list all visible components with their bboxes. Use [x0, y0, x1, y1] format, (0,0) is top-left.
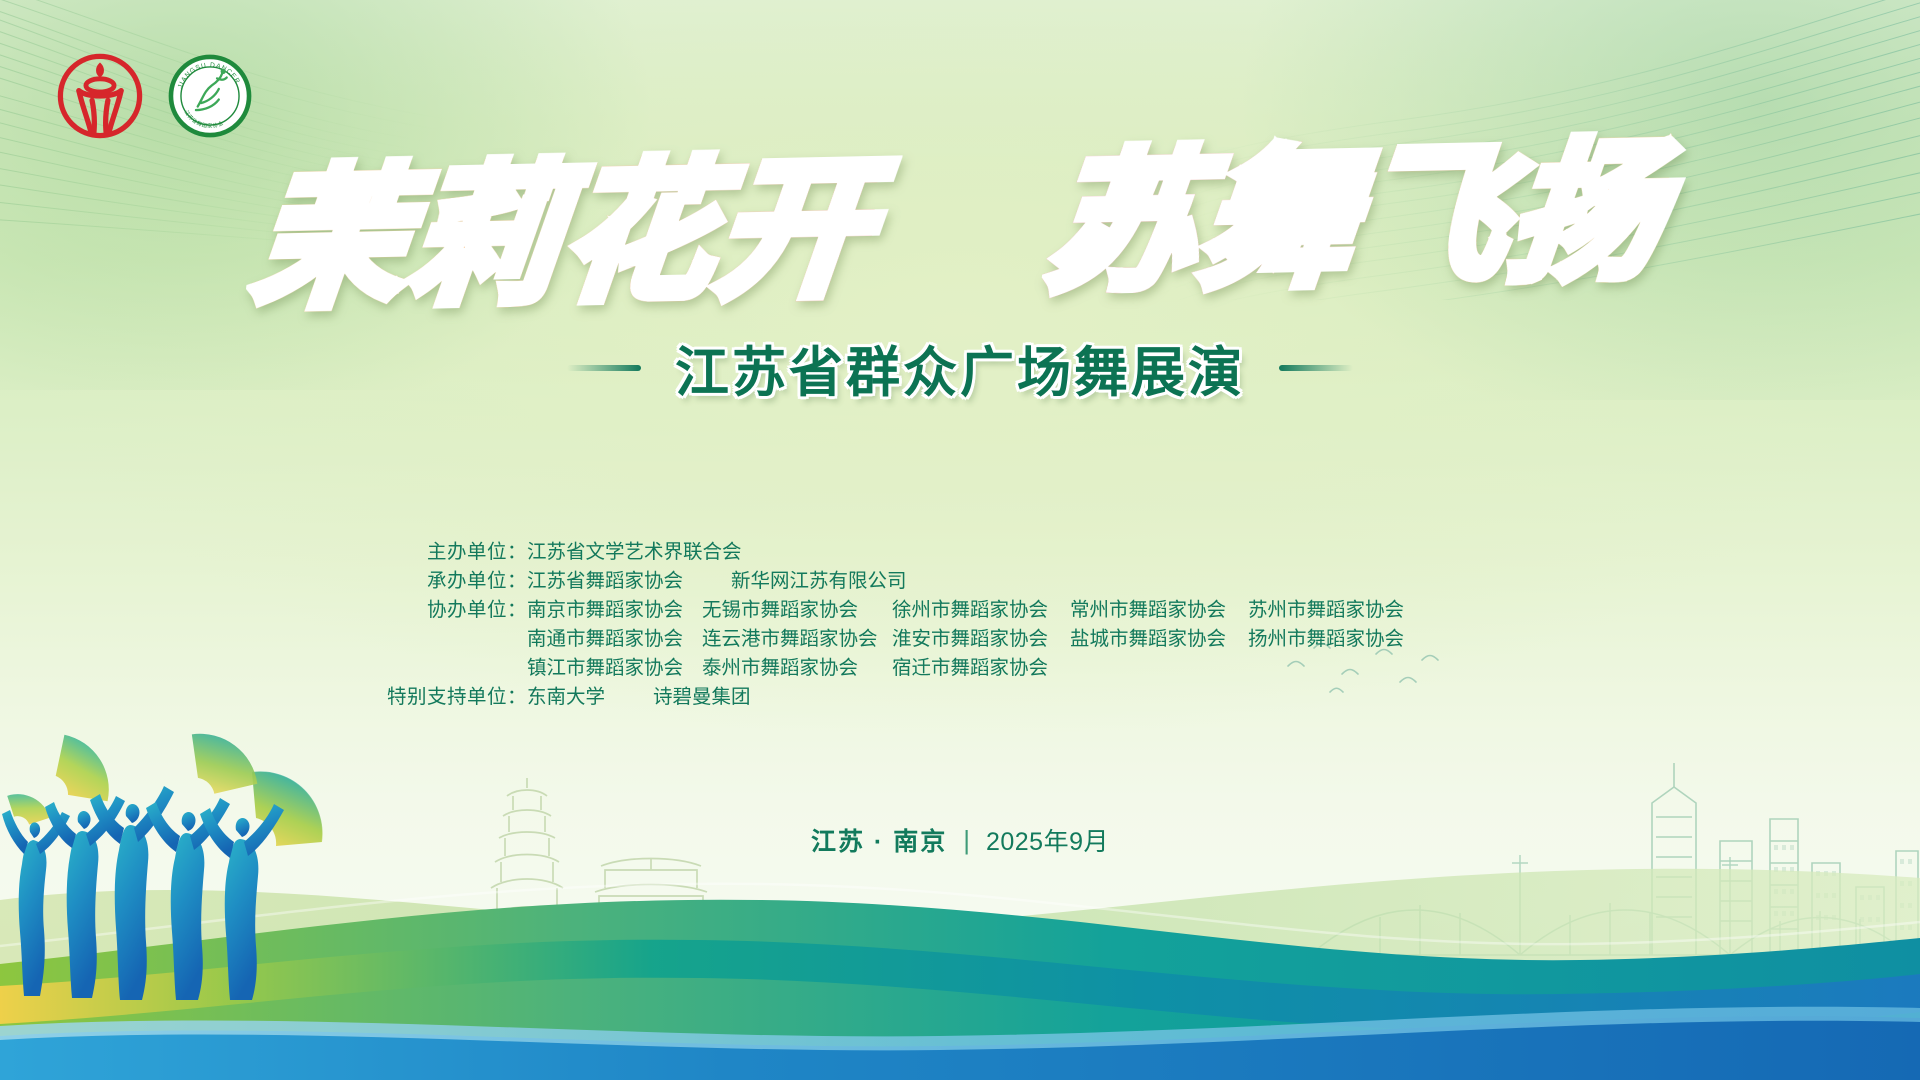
credit-item: 无锡市舞蹈家协会 [702, 596, 892, 625]
credit-label-host: 承办单位： [405, 567, 527, 596]
credit-item: 南京市舞蹈家协会 [527, 596, 702, 625]
credit-item: 淮安市舞蹈家协会 [892, 625, 1070, 654]
poster-footer: 江苏 · 南京 | 2025年9月 [0, 822, 1920, 858]
credit-item: 诗碧曼集团 [653, 683, 751, 712]
credit-line-organizer: 主办单位： 江苏省文学艺术界联合会 [405, 538, 1408, 567]
footer-place: 江苏 · 南京 [811, 822, 947, 858]
title-segment-1: 茉莉花开 [247, 150, 881, 320]
credit-item: 南通市舞蹈家协会 [527, 625, 702, 654]
credit-line-coorganizer-3: 镇江市舞蹈家协会 泰州市舞蹈家协会 宿迁市舞蹈家协会 [405, 654, 1408, 683]
footer-date: 2025年9月 [986, 822, 1109, 858]
credit-label-coorganizer: 协办单位： [405, 596, 527, 625]
credit-item: 新华网江苏有限公司 [731, 567, 907, 596]
credit-line-special-support: 特别支持单位： 东南大学 诗碧曼集团 [333, 683, 1408, 712]
credit-item: 镇江市舞蹈家协会 [527, 654, 702, 683]
credit-item: 盐城市舞蹈家协会 [1070, 625, 1248, 654]
credit-item: 泰州市舞蹈家协会 [702, 654, 892, 683]
jiangsu-dancers-association-logo: JIANGSU DANCER 江苏省舞蹈家协会 [166, 52, 254, 140]
credit-label-special-support: 特别支持单位： [333, 683, 527, 712]
title-spacer [924, 277, 986, 278]
credit-line-host: 承办单位： 江苏省舞蹈家协会 新华网江苏有限公司 [405, 567, 1408, 596]
credit-item: 江苏省舞蹈家协会 [527, 567, 683, 596]
logo-group: JIANGSU DANCER 江苏省舞蹈家协会 [56, 52, 254, 140]
credit-item: 江苏省文学艺术界联合会 [527, 538, 742, 567]
china-dancers-association-logo [56, 52, 144, 140]
credit-item: 常州市舞蹈家协会 [1070, 596, 1248, 625]
poster-canvas: JIANGSU DANCER 江苏省舞蹈家协会 茉莉花开 苏舞飞扬 江苏省群众广… [0, 0, 1920, 1080]
title-segment-2: 苏舞飞扬 [1039, 133, 1673, 303]
poster-subtitle-row: 江苏省群众广场舞展演 [0, 328, 1920, 407]
subtitle-dash-right [1279, 365, 1353, 371]
credits-block: 主办单位： 江苏省文学艺术界联合会 承办单位： 江苏省舞蹈家协会 新华网江苏有限… [405, 538, 1408, 712]
credit-item: 宿迁市舞蹈家协会 [892, 654, 1070, 683]
credit-item: 东南大学 [527, 683, 605, 712]
credit-item: 徐州市舞蹈家协会 [892, 596, 1070, 625]
credit-item: 扬州市舞蹈家协会 [1248, 625, 1408, 654]
credit-line-coorganizer-1: 协办单位： 南京市舞蹈家协会 无锡市舞蹈家协会 徐州市舞蹈家协会 常州市舞蹈家协… [405, 596, 1408, 625]
credit-item: 苏州市舞蹈家协会 [1248, 596, 1408, 625]
subtitle-dash-left [567, 365, 641, 371]
credit-item: 连云港市舞蹈家协会 [702, 625, 892, 654]
poster-title: 茉莉花开 苏舞飞扬 [0, 148, 1920, 306]
footer-separator: | [963, 825, 970, 856]
credit-line-coorganizer-2: 南通市舞蹈家协会 连云港市舞蹈家协会 淮安市舞蹈家协会 盐城市舞蹈家协会 扬州市… [405, 625, 1408, 654]
poster-subtitle: 江苏省群众广场舞展演 [675, 328, 1245, 407]
credit-label-organizer: 主办单位： [405, 538, 527, 567]
